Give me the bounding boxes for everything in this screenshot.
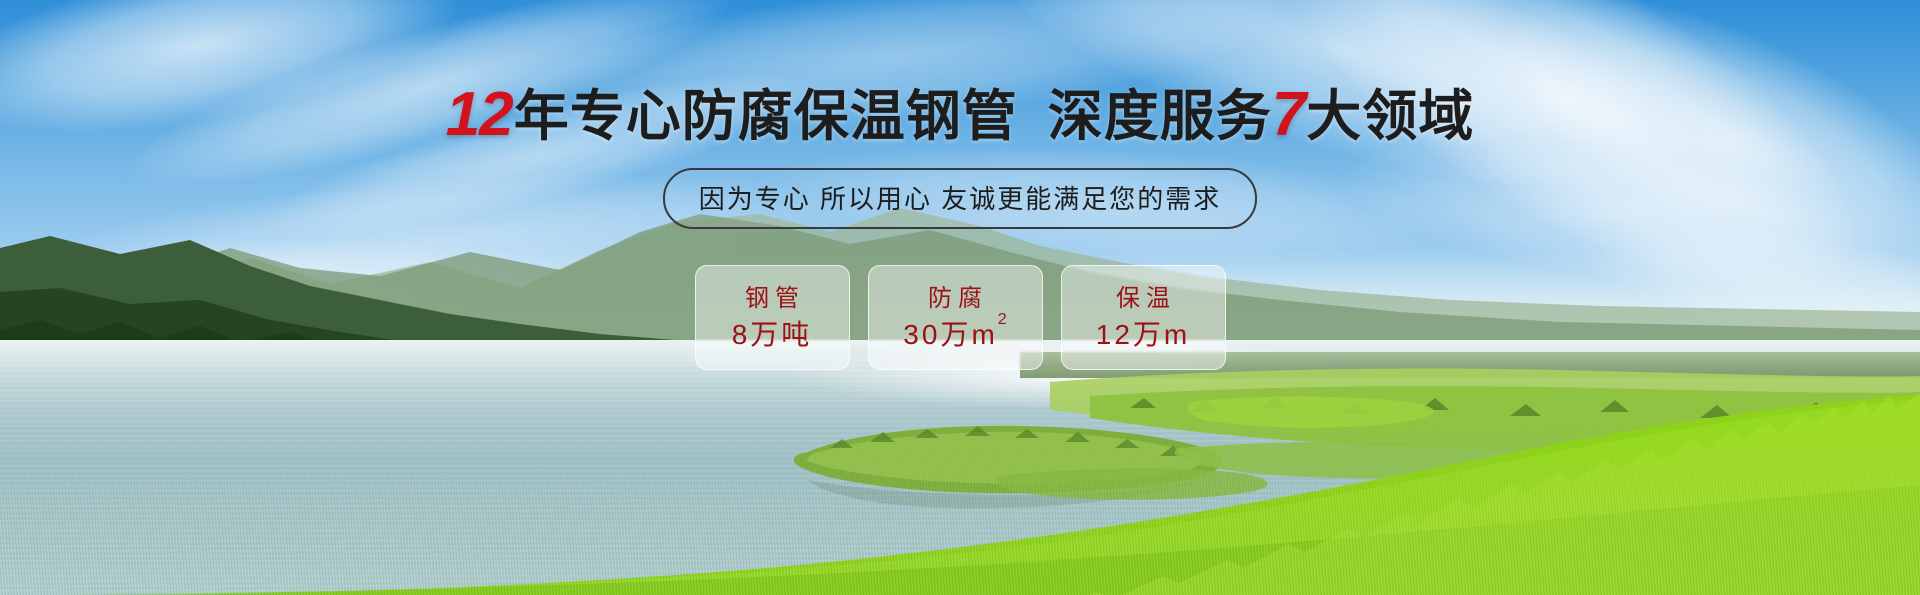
headline-part-1: 年专心防腐保温钢管 bbox=[514, 85, 1018, 147]
stat-label: 保温 bbox=[1110, 287, 1176, 311]
stat-card-steel-pipe: 钢管 8万吨 bbox=[695, 265, 850, 370]
stat-label: 钢管 bbox=[739, 287, 805, 311]
headline-part-3: 大领域 bbox=[1306, 85, 1474, 147]
subtitle-pill: 因为专心 所以用心 友诚更能满足您的需求 bbox=[663, 168, 1257, 229]
headline-fields-number: 7 bbox=[1272, 80, 1305, 149]
stat-value-text: 12万m bbox=[1096, 319, 1190, 350]
stat-value-text: 30万m bbox=[903, 319, 997, 350]
page-title: 12年专心防腐保温钢管深度服务7大领域 bbox=[0, 84, 1920, 146]
stat-card-list: 钢管 8万吨 防腐 30万m2 保温 12万m bbox=[0, 265, 1920, 370]
subtitle-container: 因为专心 所以用心 友诚更能满足您的需求 bbox=[0, 168, 1920, 229]
stat-value: 30万m2 bbox=[903, 321, 1006, 349]
stat-card-anticorrosion: 防腐 30万m2 bbox=[868, 265, 1043, 370]
stat-value: 8万吨 bbox=[732, 321, 813, 349]
headline-years-number: 12 bbox=[446, 80, 513, 149]
stat-card-insulation: 保温 12万m bbox=[1061, 265, 1226, 370]
hero-banner: 12年专心防腐保温钢管深度服务7大领域 因为专心 所以用心 友诚更能满足您的需求… bbox=[0, 0, 1920, 595]
banner-content: 12年专心防腐保温钢管深度服务7大领域 因为专心 所以用心 友诚更能满足您的需求… bbox=[0, 0, 1920, 595]
stat-value-superscript: 2 bbox=[998, 311, 1007, 328]
stat-value-text: 8万吨 bbox=[732, 319, 813, 350]
stat-label: 防腐 bbox=[922, 287, 988, 311]
stat-value: 12万m bbox=[1096, 321, 1190, 349]
headline-part-2: 深度服务 bbox=[1048, 85, 1272, 147]
